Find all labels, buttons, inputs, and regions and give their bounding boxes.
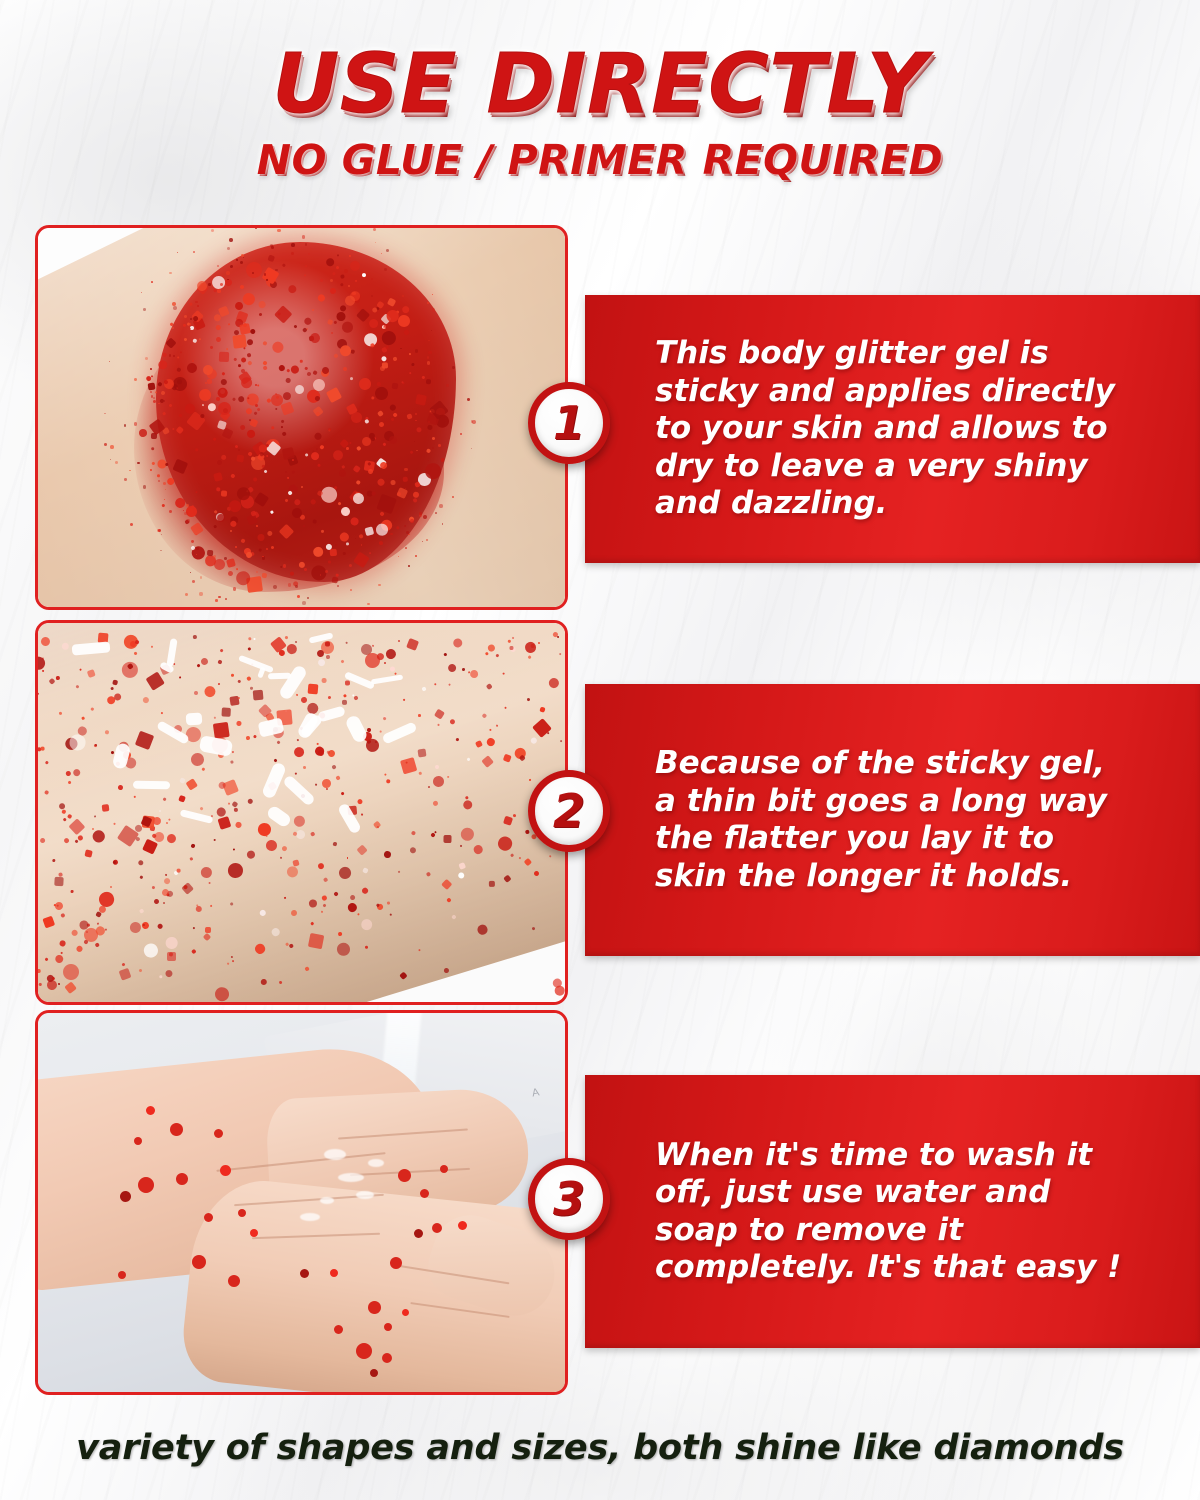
step-number-2: 2: [553, 788, 585, 834]
glitter-dot: [356, 1343, 372, 1359]
glitter-dot: [134, 1137, 142, 1145]
water-highlight: [320, 1197, 334, 1204]
glitter-dot: [176, 1173, 188, 1185]
water-highlight: [356, 1191, 374, 1199]
sink-brand-label: A: [531, 1086, 540, 1099]
glitter-dot: [238, 1209, 246, 1217]
glitter-dot: [250, 1229, 258, 1237]
glitter-dot: [390, 1257, 402, 1269]
water-highlight: [324, 1149, 346, 1160]
step-text-3: When it's time to wash it off, just use …: [585, 1137, 1147, 1287]
photo-3-content: A: [38, 1013, 565, 1392]
glitter-dot: [440, 1165, 448, 1173]
photo-1-content: [38, 228, 565, 607]
glitter-dot: [368, 1301, 381, 1314]
glitter-dot: [118, 1271, 126, 1279]
step-text-band-1: This body glitter gel is sticky and appl…: [585, 295, 1200, 563]
glitter-dot: [170, 1123, 183, 1136]
glitter-dot: [334, 1325, 343, 1334]
glitter-dot: [370, 1369, 378, 1377]
glitter-dot: [146, 1106, 155, 1115]
step-text-1: This body glitter gel is sticky and appl…: [585, 335, 1141, 523]
glitter-dot: [120, 1191, 131, 1202]
step-photo-2: [35, 620, 568, 1005]
glitter-dot: [382, 1353, 392, 1363]
glitter-dot: [228, 1275, 240, 1287]
header-block: USE DIRECTLY NO GLUE / PRIMER REQUIRED: [0, 44, 1200, 184]
glitter-dot: [420, 1189, 429, 1198]
footer-caption: variety of shapes and sizes, both shine …: [0, 1428, 1200, 1468]
water-highlight: [300, 1213, 320, 1221]
glitter-dot: [432, 1223, 442, 1233]
glitter-dot: [384, 1323, 392, 1331]
glitter-dot: [402, 1309, 409, 1316]
step-number-badge-2: 2: [528, 770, 610, 852]
glitter-dot: [330, 1269, 338, 1277]
glitter-dot: [138, 1177, 154, 1193]
photo-2-content: [38, 623, 565, 1002]
infographic-page: USE DIRECTLY NO GLUE / PRIMER REQUIRED T…: [0, 0, 1200, 1500]
glitter-dot: [414, 1229, 423, 1238]
glitter-dot: [300, 1269, 309, 1278]
glitter-dot: [458, 1221, 467, 1230]
glitter-dot: [220, 1165, 231, 1176]
page-title: USE DIRECTLY: [0, 44, 1200, 126]
glitter-dot: [214, 1129, 223, 1138]
step-number-badge-1: 1: [528, 382, 610, 464]
step-text-band-2: Because of the sticky gel, a thin bit go…: [585, 684, 1200, 956]
step-text-2: Because of the sticky gel, a thin bit go…: [585, 745, 1133, 895]
glitter-dot: [204, 1213, 213, 1222]
water-highlight: [368, 1159, 384, 1167]
water-highlight: [338, 1173, 364, 1182]
glitter-dot: [192, 1255, 206, 1269]
step-number-1: 1: [553, 400, 585, 446]
glitter-dot: [398, 1169, 411, 1182]
step-number-badge-3: 3: [528, 1158, 610, 1240]
step-text-band-3: When it's time to wash it off, just use …: [585, 1075, 1200, 1348]
step-photo-1: [35, 225, 568, 610]
step-photo-3: A: [35, 1010, 568, 1395]
step-number-3: 3: [553, 1176, 585, 1222]
page-subtitle: NO GLUE / PRIMER REQUIRED: [0, 136, 1200, 184]
